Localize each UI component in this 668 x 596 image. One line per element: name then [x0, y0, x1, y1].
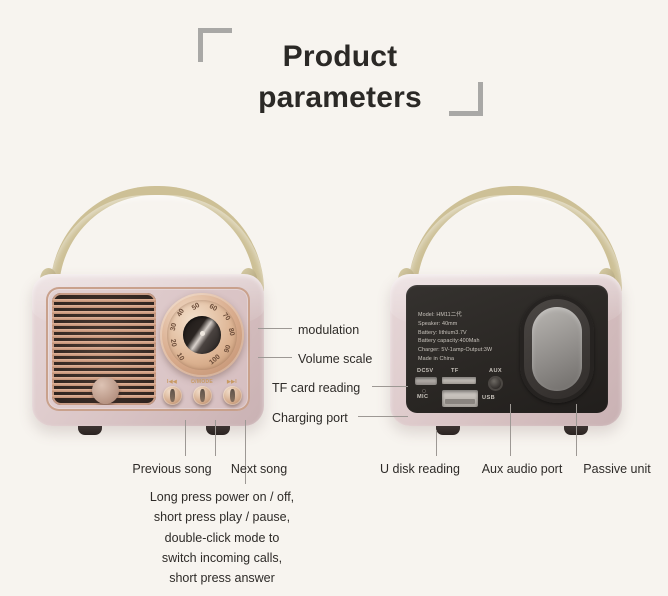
- callout-next-song: Next song: [231, 460, 287, 478]
- infographic-canvas: Product parameters: [0, 0, 668, 596]
- page-title-block: Product parameters: [195, 22, 485, 122]
- tuning-dial[interactable]: 50 40 30 20 10 60 70 80 90 100: [160, 293, 244, 377]
- leader-modulation: [258, 328, 292, 329]
- front-face-panel: 50 40 30 20 10 60 70 80 90 100: [46, 287, 250, 411]
- leader-aux-audio: [510, 404, 511, 456]
- dial-center-cap: [183, 316, 221, 354]
- page-title-line-2: parameters: [195, 77, 485, 118]
- dc-port-label: DC5V: [417, 368, 434, 374]
- speaker-body-front: 50 40 30 20 10 60 70 80 90 100: [32, 274, 264, 426]
- mic-hole: [422, 389, 426, 393]
- leader-previous-song: [185, 420, 186, 456]
- left-speaker-unit: 50 40 30 20 10 60 70 80 90 100: [28, 180, 288, 445]
- dc-charging-port[interactable]: [415, 377, 437, 385]
- power-mode-knob[interactable]: [193, 386, 212, 405]
- speaker-grille: [52, 293, 156, 405]
- tf-card-slot[interactable]: [442, 377, 476, 384]
- right-speaker-unit: Model: HM11二代 Speaker: 40mm Battery: lit…: [382, 180, 647, 445]
- aux-port-label: AUX: [489, 368, 502, 374]
- grille-accent-knob[interactable]: [92, 377, 119, 404]
- callout-modulation: modulation: [298, 321, 359, 339]
- usb-a-port[interactable]: [442, 390, 478, 407]
- knob-cap-power: ⏻/MODE: [191, 379, 213, 385]
- leader-volume-scale: [258, 357, 292, 358]
- usb-port-label: USB: [482, 395, 495, 401]
- callout-aux-audio-port: Aux audio port: [482, 460, 563, 478]
- mic-label: MIC: [417, 394, 428, 400]
- leader-u-disk: [436, 430, 437, 456]
- speaker-body-back: Model: HM11二代 Speaker: 40mm Battery: lit…: [390, 274, 622, 426]
- next-song-knob[interactable]: [223, 386, 242, 405]
- leader-charging-port: [358, 416, 408, 417]
- passive-radiator: [520, 295, 594, 403]
- tf-port-label: TF: [451, 368, 459, 374]
- leader-passive-unit: [576, 404, 577, 456]
- back-panel: Model: HM11二代 Speaker: 40mm Battery: lit…: [406, 285, 608, 413]
- previous-song-knob[interactable]: [163, 386, 182, 405]
- power-caption-line-5: short press answer: [92, 568, 352, 588]
- knob-cap-previous: I◀◀: [167, 379, 177, 385]
- page-title: Product parameters: [195, 36, 485, 119]
- callout-charging-port: Charging port: [272, 409, 348, 427]
- specification-label: Model: HM11二代 Speaker: 40mm Battery: lit…: [418, 311, 492, 364]
- callout-tf-card-reading: TF card reading: [272, 379, 360, 397]
- leader-tf-card: [372, 386, 408, 387]
- callout-u-disk-reading: U disk reading: [380, 460, 460, 478]
- power-caption-line-2: short press play / pause,: [92, 507, 352, 527]
- callout-volume-scale: Volume scale: [298, 350, 372, 368]
- power-caption-line-3: double-click mode to: [92, 528, 352, 548]
- power-caption-line-4: switch incoming calls,: [92, 548, 352, 568]
- aux-audio-jack[interactable]: [488, 376, 503, 391]
- leader-next-song: [215, 420, 216, 456]
- page-title-line-1: Product: [195, 36, 485, 77]
- power-caption-line-1: Long press power on / off,: [92, 487, 352, 507]
- power-button-caption: Long press power on / off, short press p…: [92, 487, 352, 588]
- callout-passive-unit: Passive unit: [583, 460, 650, 478]
- passive-radiator-membrane: [532, 307, 582, 391]
- knob-cap-next: ▶▶I: [227, 379, 237, 385]
- callout-previous-song: Previous song: [132, 460, 211, 478]
